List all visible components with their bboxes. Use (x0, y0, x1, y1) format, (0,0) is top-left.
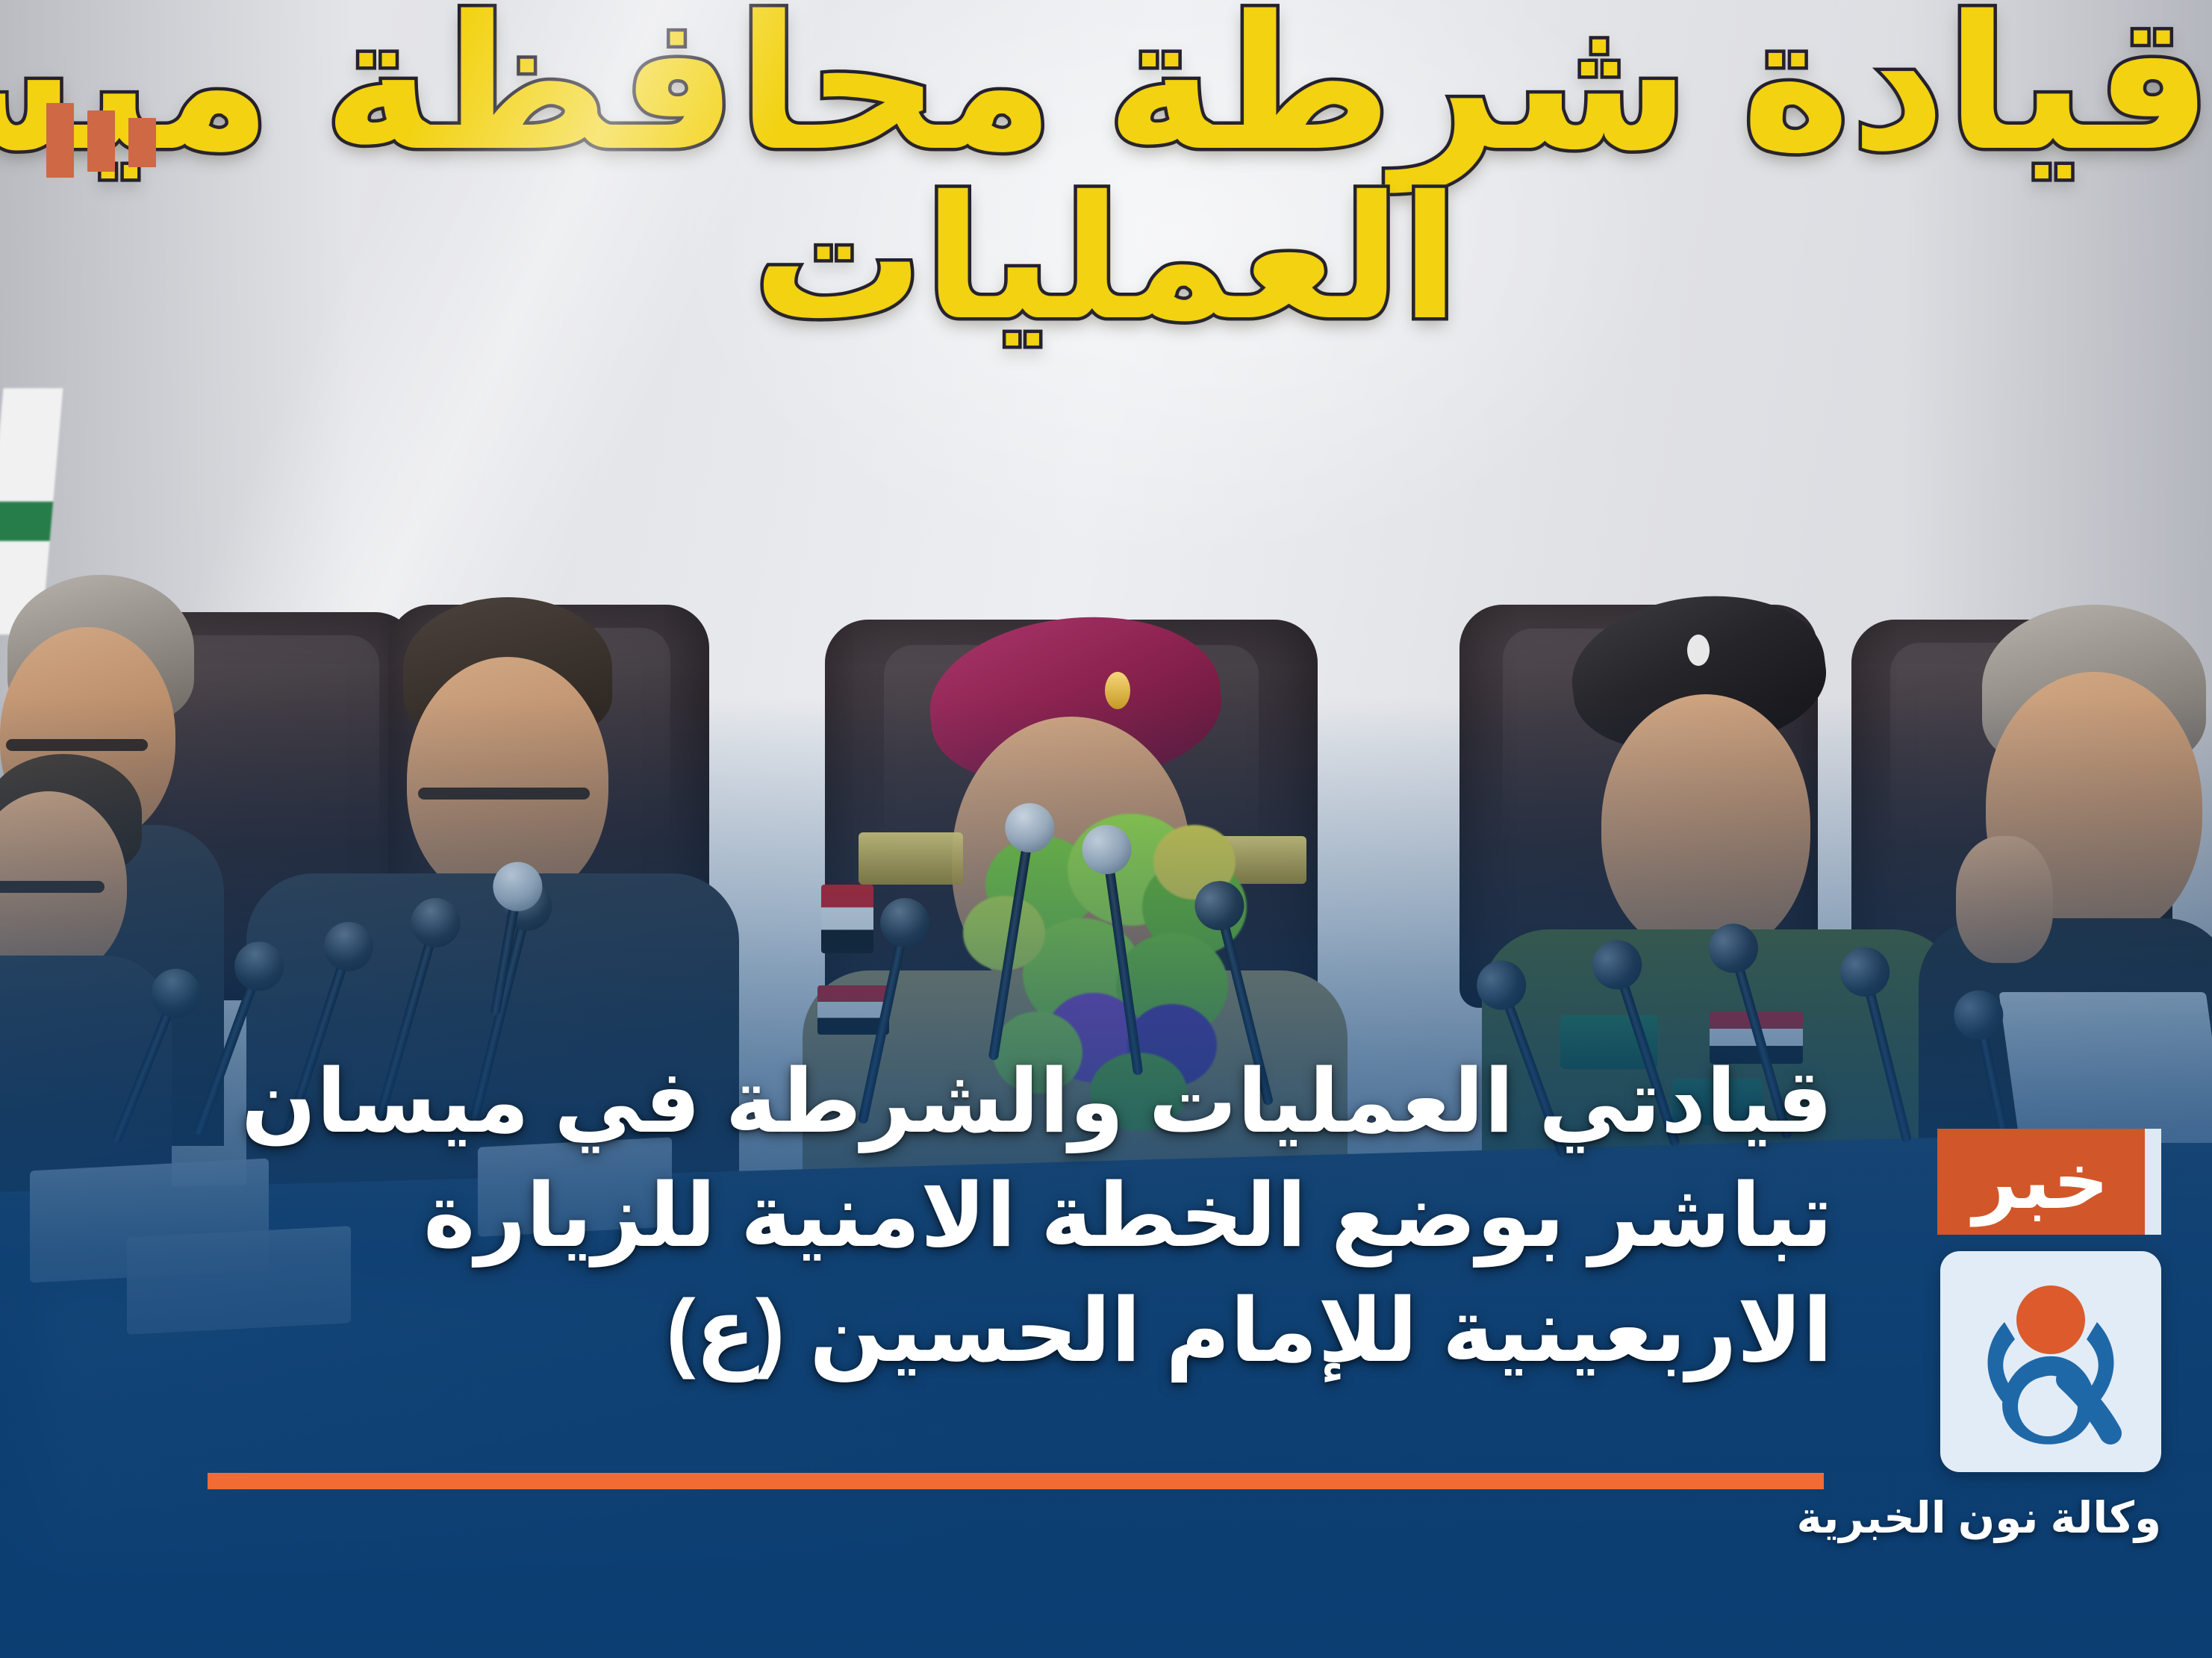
agency-name: وكالة نون الخبرية (1915, 1495, 2161, 1542)
paper-right-1 (1998, 992, 2212, 1143)
orange-divider (208, 1473, 1824, 1489)
photo-scene: قيادة شرطة محافظة ميسان العمليات (0, 0, 2212, 1658)
agency-logo-card (1940, 1251, 2161, 1472)
headline-text: قيادتي العمليات والشرطة في ميسان تباشر ب… (157, 1045, 1833, 1389)
bar-1 (46, 103, 74, 178)
wall-sign-line-1: قيادة شرطة محافظة ميسان (0, 0, 2212, 181)
wall-sign-line-2: العمليات (0, 170, 2212, 349)
news-card: قيادة شرطة محافظة ميسان العمليات (0, 0, 2212, 1658)
beret-badge (1105, 672, 1130, 709)
khabar-badge-wrap: خبر (1937, 1129, 2161, 1235)
bar-3 (128, 118, 156, 167)
agency-logo-icon (1940, 1251, 2161, 1472)
khabar-badge: خبر (1937, 1129, 2145, 1235)
bars-watermark-icon (46, 103, 156, 178)
brand-block: خبر وكالة نون الخبرية (1915, 1129, 2161, 1542)
bar-2 (87, 110, 115, 172)
